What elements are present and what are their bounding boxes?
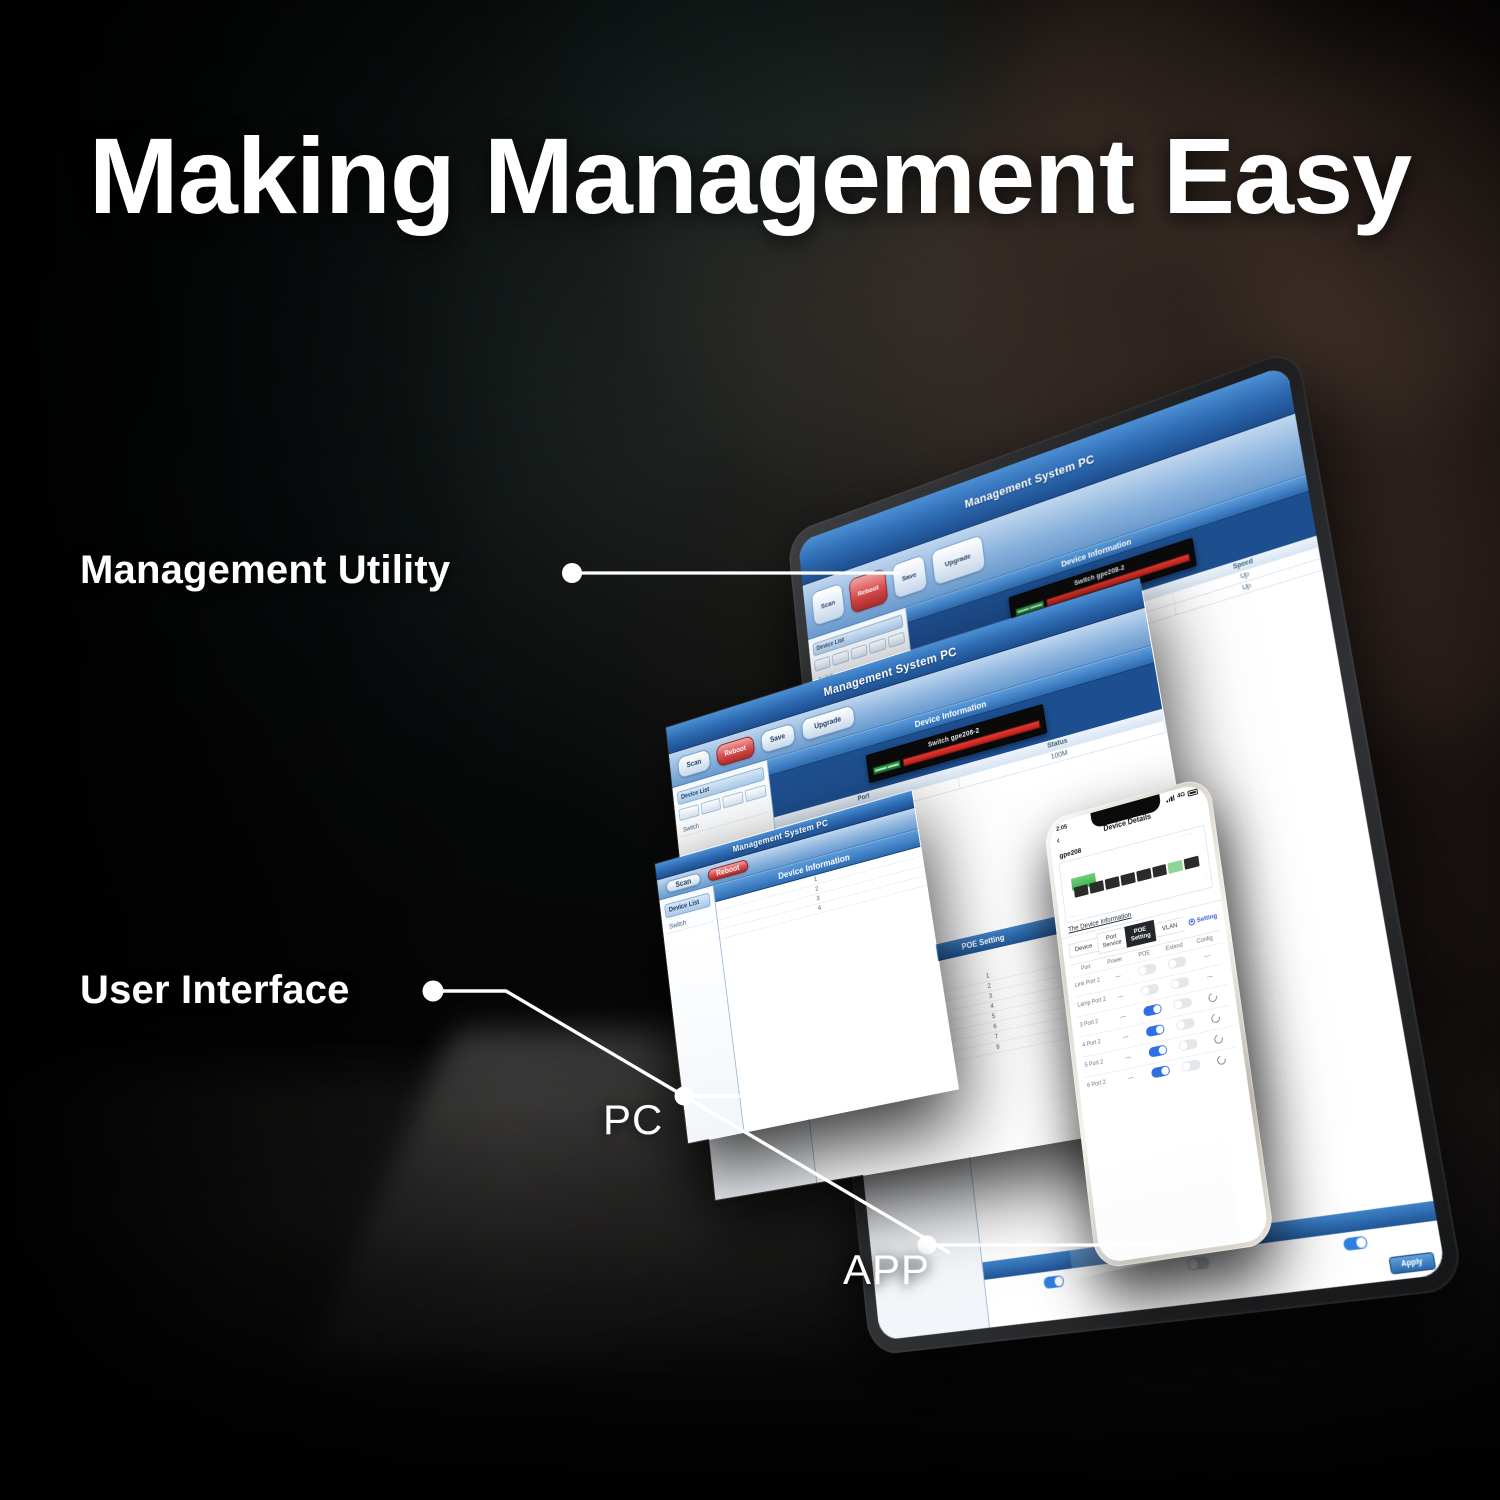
row-port-label: 4 Port 2 [1080,1037,1111,1051]
setting-button-label: Setting [1196,912,1217,924]
poe-toggle[interactable] [1148,1044,1167,1058]
row-port-label: Lamp Port 2 [1075,997,1106,1011]
extend-toggle[interactable] [1167,956,1187,970]
poe-toggle[interactable] [1143,1003,1162,1017]
pc-toggle-3[interactable] [1343,1236,1368,1252]
pc-toolbar-button-save[interactable]: Save [760,723,796,754]
extend-toggle[interactable] [1170,976,1190,990]
row-config: — [1192,950,1223,963]
gear-icon [1188,917,1195,925]
row-config: — [1194,971,1225,984]
sidebar-icon-4[interactable] [745,785,767,803]
reload-icon[interactable] [1210,1012,1221,1024]
row-power: — [1108,1011,1138,1023]
callout-app: APP [843,1246,930,1294]
extend-toggle[interactable] [1178,1038,1198,1052]
sidebar-icon-2[interactable] [700,798,721,815]
reload-icon[interactable] [1213,1033,1224,1045]
poe-toggle[interactable] [1145,1024,1164,1038]
pc-toolbar-button-scan[interactable]: Scan [677,749,711,779]
pc-toolbar-button-reboot[interactable]: Reboot [848,568,888,614]
setting-button[interactable]: Setting [1183,912,1217,927]
row-power: — [1116,1073,1146,1085]
callout-management-utility: Management Utility [80,548,450,593]
sidebar-icon-1[interactable] [814,656,831,672]
poe-toggle[interactable] [1138,963,1157,977]
reload-icon[interactable] [1216,1054,1228,1066]
scene-stage: Management System PC Scan Reboot Save Up… [0,0,1500,1500]
pc-toggle-2[interactable] [1187,1256,1210,1271]
row-port-label: 3 Port 2 [1078,1017,1109,1031]
row-port-label: 6 Port 2 [1085,1078,1117,1091]
row-power: — [1103,971,1133,983]
sidebar-icon-1[interactable] [679,804,700,821]
sidebar-icon-5[interactable] [888,632,906,649]
row-power: — [1113,1052,1143,1064]
tab-poe-setting[interactable]: POE Setting [1124,920,1156,948]
callout-user-interface: User Interface [80,968,350,1013]
pc-toolbar-button-scan[interactable]: Scan [811,583,846,627]
sidebar-icon-3[interactable] [722,791,743,808]
sidebar-icon-3[interactable] [850,644,867,660]
row-port-label: 5 Port 2 [1083,1058,1115,1072]
reload-icon[interactable] [1207,991,1218,1003]
pc-toolbar-button-upgrade[interactable]: Upgrade [930,534,985,586]
pc-toolbar-button-reboot[interactable]: Reboot [716,735,755,767]
extend-toggle[interactable] [1181,1059,1201,1073]
poe-toggle[interactable] [1151,1065,1171,1079]
row-power: — [1106,991,1136,1003]
sidebar-icon-4[interactable] [869,638,887,655]
poe-toggle[interactable] [1140,983,1159,997]
pc-main-panel: Device Information 1 2 3 4 [713,829,958,1131]
page-title: Making Management Easy [0,118,1500,235]
row-power: — [1111,1032,1141,1044]
extend-toggle[interactable] [1173,997,1193,1011]
sidebar-icon-2[interactable] [832,650,849,666]
row-port-label: Link Port 2 [1073,977,1104,991]
tab-device[interactable]: Device [1068,937,1098,958]
extend-toggle[interactable] [1175,1017,1195,1031]
callout-pc: PC [603,1096,663,1144]
pc-apply-button[interactable]: Apply [1388,1252,1436,1275]
pc-toolbar-button-save[interactable]: Save [891,554,928,599]
tab-vlan[interactable]: VLAN [1154,916,1185,937]
pc-toggle-1[interactable] [1043,1275,1064,1289]
tab-port-service[interactable]: Port Service [1096,927,1127,955]
